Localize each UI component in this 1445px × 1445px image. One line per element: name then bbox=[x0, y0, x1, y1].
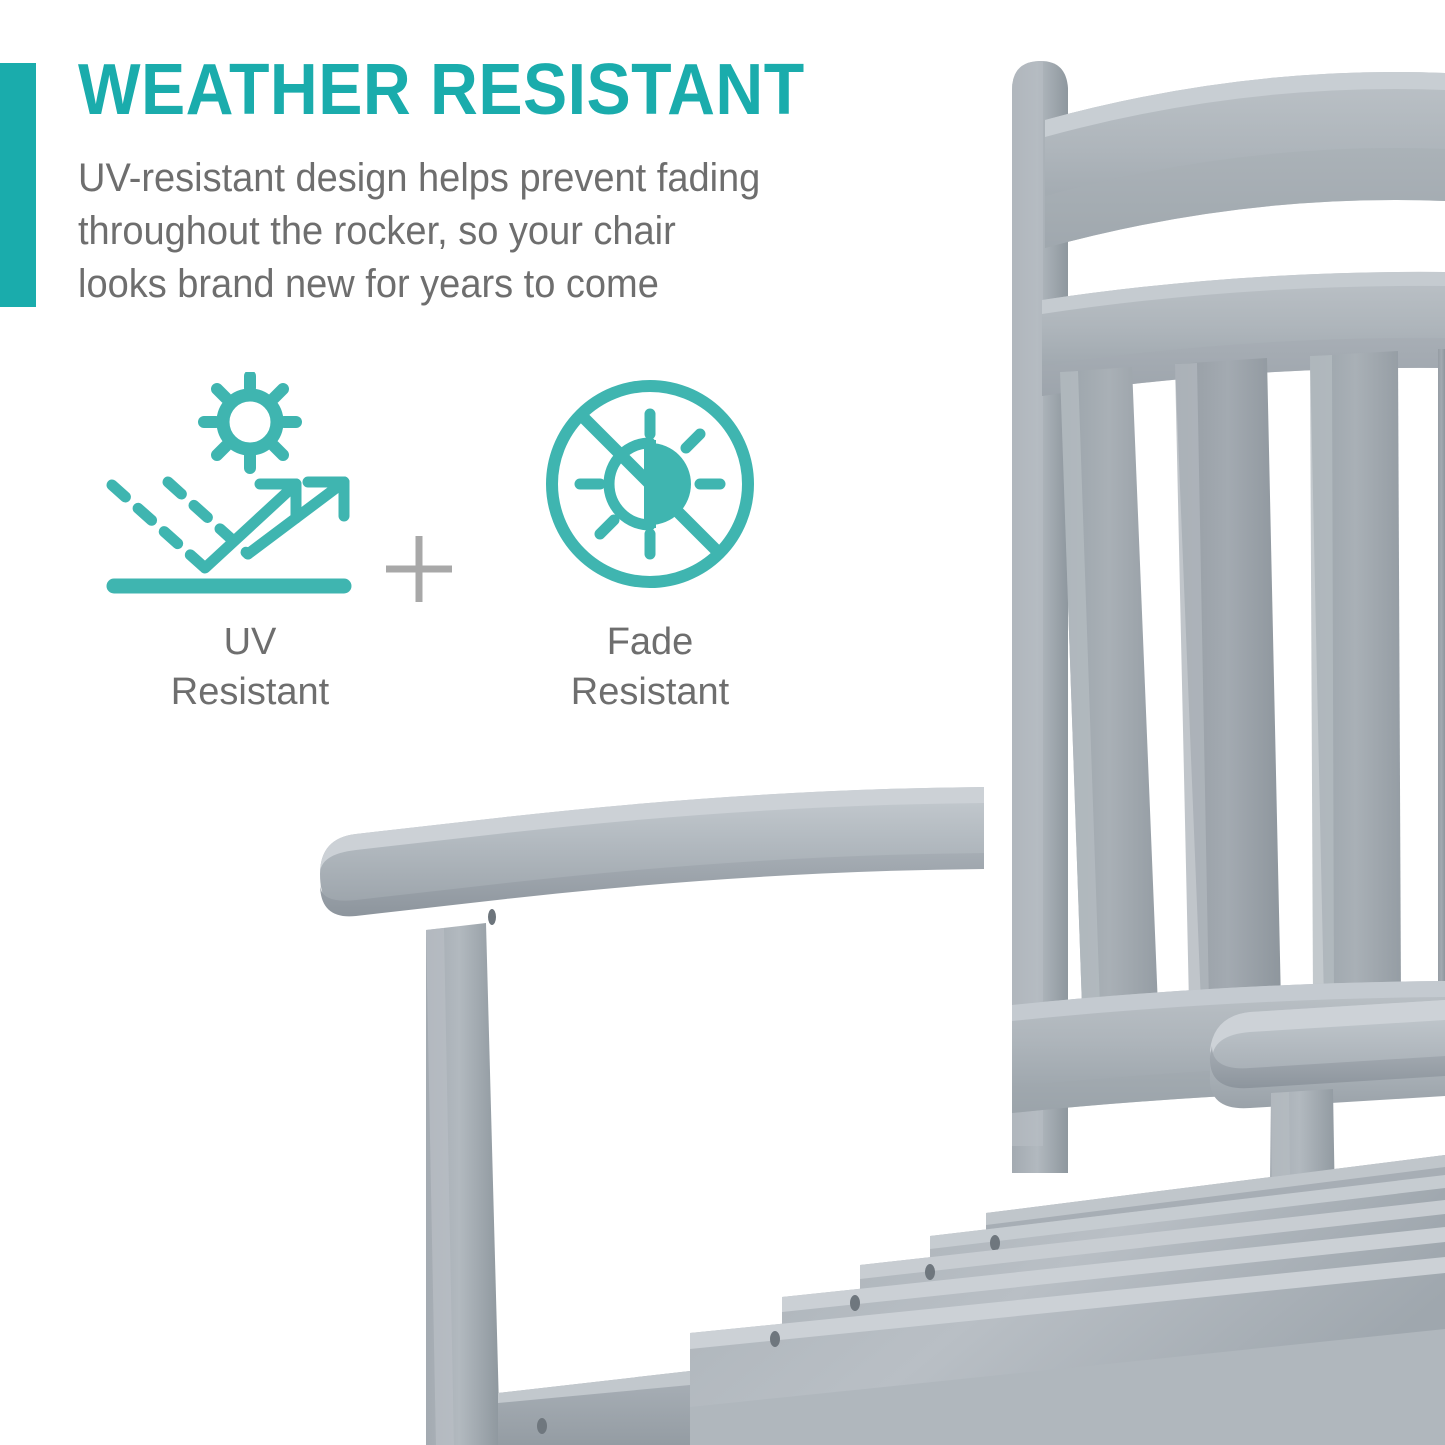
feature-uv-resistant: UV Resistant bbox=[100, 372, 400, 722]
description-line-1: UV-resistant design helps prevent fading bbox=[78, 152, 933, 205]
description-text: UV-resistant design helps prevent fading… bbox=[78, 152, 933, 311]
uv-resistant-icon bbox=[100, 372, 400, 602]
chair-left-arm-post bbox=[426, 923, 500, 1445]
fade-resistant-icon bbox=[500, 372, 800, 602]
description-line-3: looks brand new for years to come bbox=[78, 258, 933, 311]
apron-screw-hole bbox=[537, 1418, 547, 1434]
infographic-canvas: WEATHER RESISTANT UV-resistant design he… bbox=[0, 0, 1445, 1445]
chair-seat bbox=[690, 1155, 1445, 1445]
armrest-screw-hole bbox=[488, 909, 496, 925]
feature-fade-resistant: Fade Resistant bbox=[500, 372, 800, 722]
page-title: WEATHER RESISTANT bbox=[78, 52, 869, 128]
description-line-2: throughout the rocker, so your chair bbox=[78, 205, 933, 258]
feature-uv-resistant-label: UV Resistant bbox=[100, 617, 400, 717]
chair-back-slats bbox=[1060, 349, 1445, 1007]
uv-label-line-2: Resistant bbox=[100, 667, 400, 717]
chair-crest-rail bbox=[1045, 72, 1445, 248]
fade-label-line-1: Fade bbox=[500, 617, 800, 667]
accent-bar bbox=[0, 63, 36, 307]
feature-fade-resistant-label: Fade Resistant bbox=[500, 617, 800, 717]
plus-icon bbox=[383, 533, 455, 605]
uv-label-line-1: UV bbox=[100, 617, 400, 667]
chair-seat-apron bbox=[498, 1371, 690, 1445]
fade-label-line-2: Resistant bbox=[500, 667, 800, 717]
chair-left-armrest bbox=[320, 787, 984, 925]
